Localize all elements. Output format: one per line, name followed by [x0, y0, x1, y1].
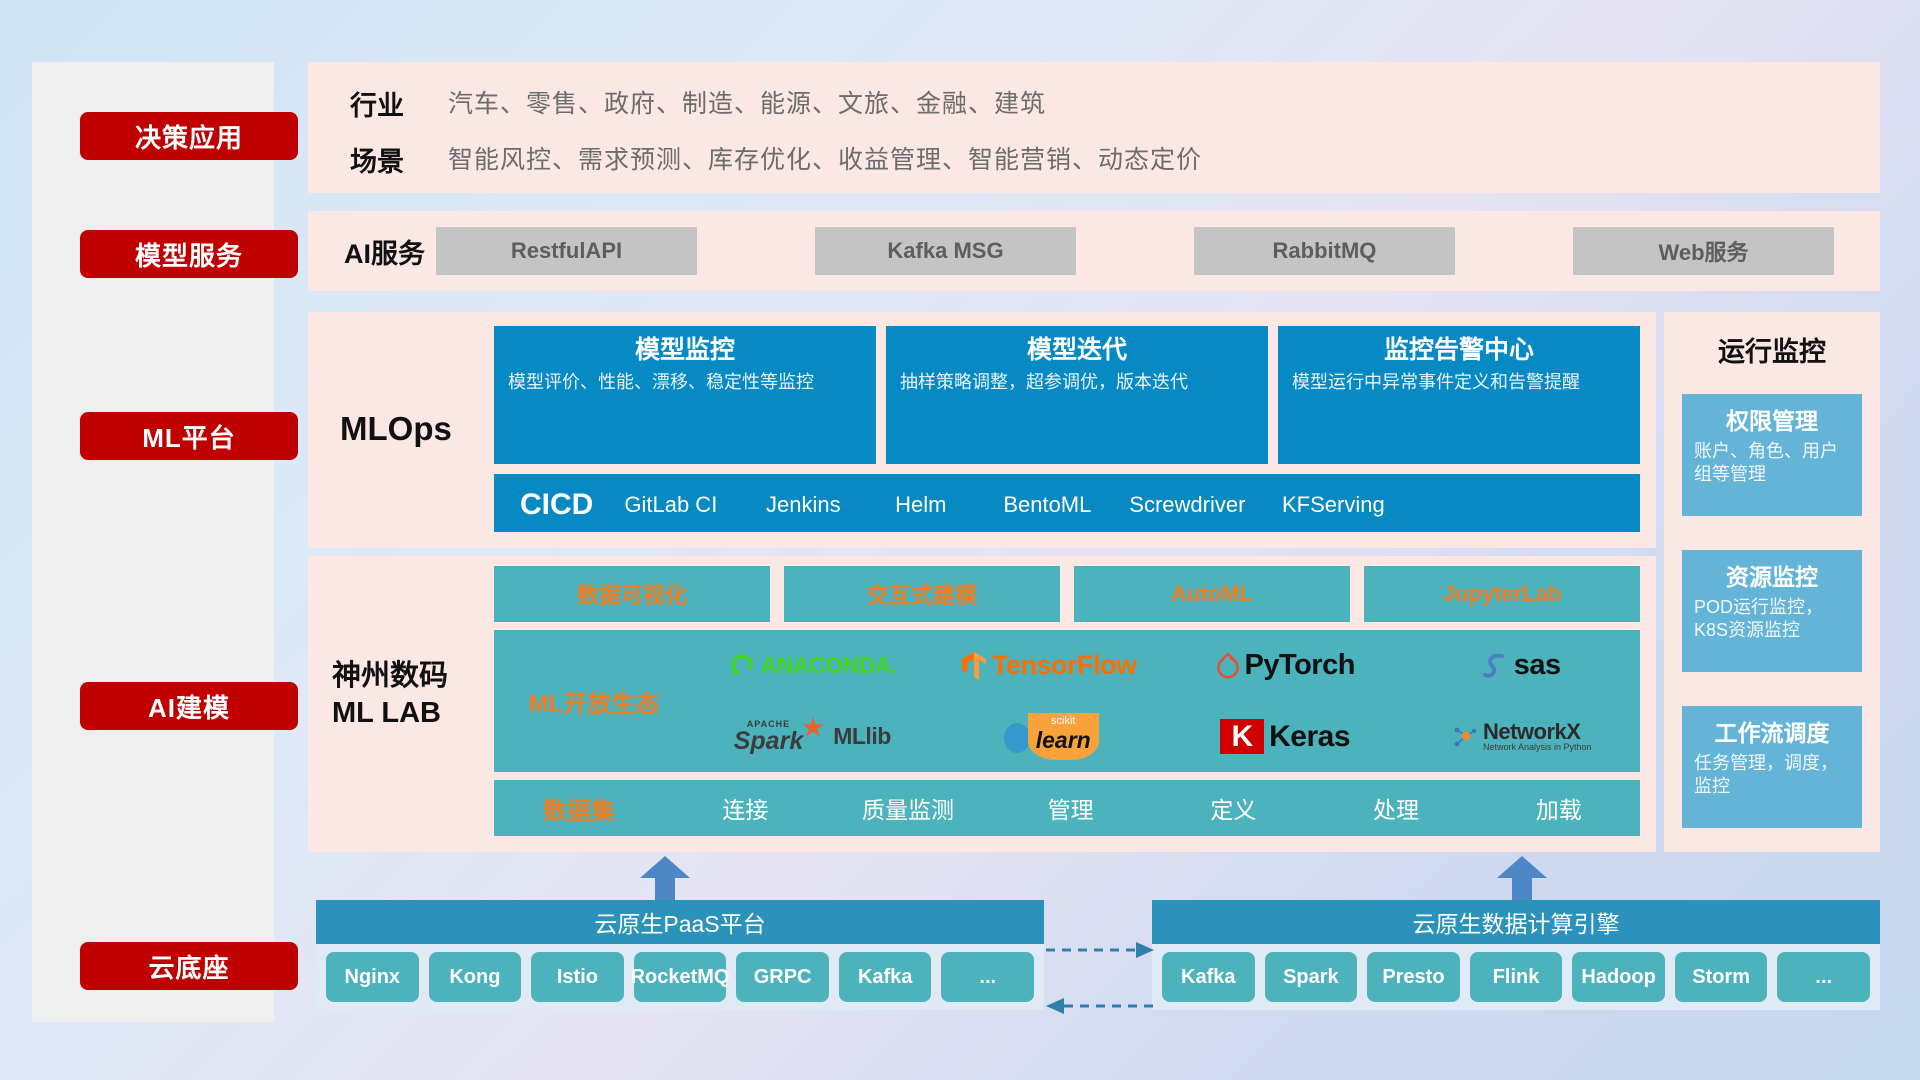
cicd-bar: CICD GitLab CI Jenkins Helm BentoML Scre… — [494, 474, 1640, 532]
dataset-item-load[interactable]: 加载 — [1477, 791, 1640, 825]
data-engine-chip-row: Kafka Spark Presto Flink Hadoop Storm ..… — [1152, 944, 1880, 1010]
dataset-row: 数据集 连接 质量监测 管理 定义 处理 加载 — [494, 780, 1640, 836]
chip-more[interactable]: ... — [941, 952, 1034, 1002]
networkx-graph-icon — [1452, 724, 1478, 750]
card-desc: 模型运行中异常事件定义和告警提醒 — [1292, 371, 1626, 395]
cicd-item-gitlab-ci[interactable]: GitLab CI — [593, 474, 748, 519]
cicd-label: Jenkins — [766, 492, 841, 517]
tensorflow-logo: TensorFlow — [961, 650, 1137, 681]
scikit-learn-logo: scikit learn — [999, 713, 1099, 760]
dataset-title: 数据集 — [494, 791, 664, 826]
learn-text: learn — [1036, 727, 1091, 754]
mlops-label: MLOps — [340, 410, 452, 448]
tab-jupyterlab[interactable]: JupyterLab — [1364, 566, 1640, 622]
chip-label: Istio — [557, 966, 598, 988]
card-title: 权限管理 — [1694, 402, 1850, 436]
sas-icon — [1483, 652, 1509, 680]
chip-label: Kafka — [858, 966, 912, 988]
ml-ecosystem-row: ML开放生态 ANACONDA. TensorFlow — [494, 630, 1640, 772]
anaconda-icon — [728, 652, 756, 680]
chip-label: Storm — [1692, 966, 1750, 988]
service-label: Web服务 — [1658, 235, 1748, 267]
anaconda-logo: ANACONDA. — [728, 652, 897, 680]
tab-automl[interactable]: AutoML — [1074, 566, 1350, 622]
rail-item-cloud-base[interactable]: 云底座 — [80, 942, 298, 990]
cicd-item-helm[interactable]: Helm — [858, 474, 983, 519]
dataset-item-process[interactable]: 处理 — [1315, 791, 1478, 825]
rail-item-ai-modeling[interactable]: AI建模 — [80, 682, 298, 730]
chip-label: Kong — [449, 966, 500, 988]
tab-label: 交互式建模 — [867, 578, 977, 610]
service-web[interactable]: Web服务 — [1573, 227, 1834, 275]
cicd-label: GitLab CI — [624, 492, 717, 517]
chip-kafka[interactable]: Kafka — [839, 952, 932, 1002]
card-desc: 账户、角色、用户组等管理 — [1694, 440, 1850, 487]
mlops-panel: MLOps 模型监控 模型评价、性能、漂移、稳定性等监控 模型迭代 抽样策略调整… — [308, 312, 1656, 548]
service-label: RabbitMQ — [1273, 238, 1377, 264]
rail-item-ml-platform[interactable]: ML平台 — [80, 412, 298, 460]
chip-presto[interactable]: Presto — [1367, 952, 1460, 1002]
cicd-title: CICD — [494, 474, 593, 522]
bidirectional-link-arrows — [1044, 938, 1156, 1022]
cicd-item-kfserving[interactable]: KFServing — [1263, 474, 1403, 519]
chip-hadoop[interactable]: Hadoop — [1572, 952, 1665, 1002]
monitoring-title: 运行监控 — [1664, 330, 1880, 369]
dataset-item-manage[interactable]: 管理 — [989, 791, 1152, 825]
cicd-label: Helm — [895, 492, 946, 517]
arrow-up-paas — [640, 856, 690, 900]
application-layer-panel: 行业 汽车、零售、政府、制造、能源、文旅、金融、建筑 场景 智能风控、需求预测、… — [308, 62, 1880, 193]
service-label: RestfulAPI — [511, 238, 622, 264]
paas-chip-row: Nginx Kong Istio RocketMQ GRPC Kafka ... — [316, 944, 1044, 1010]
chip-rocketmq[interactable]: RocketMQ — [634, 952, 727, 1002]
ai-service-label: AI服务 — [308, 232, 436, 271]
cicd-label: Screwdriver — [1129, 492, 1245, 517]
card-desc: POD运行监控，K8S资源监控 — [1694, 596, 1850, 643]
dataset-item-define[interactable]: 定义 — [1152, 791, 1315, 825]
dataset-label: 定义 — [1210, 797, 1256, 823]
data-engine-title: 云原生数据计算引擎 — [1152, 900, 1880, 944]
card-title: 模型迭代 — [900, 336, 1254, 365]
chip-label: Kafka — [1181, 966, 1235, 988]
mlops-card-alert-center[interactable]: 监控告警中心 模型运行中异常事件定义和告警提醒 — [1278, 326, 1640, 464]
cicd-label: BentoML — [1003, 492, 1091, 517]
tab-data-visualization[interactable]: 数据可视化 — [494, 566, 770, 622]
chip-label: ... — [979, 966, 996, 988]
chip-grpc[interactable]: GRPC — [736, 952, 829, 1002]
chip-nginx[interactable]: Nginx — [326, 952, 419, 1002]
logo-grid: ANACONDA. TensorFlow PyTorch — [694, 630, 1640, 772]
dataset-label: 处理 — [1373, 797, 1419, 823]
spark-mllib-logo: APACHE Spark MLlib — [734, 720, 891, 754]
mllab-label-en: ML LAB — [332, 695, 448, 732]
data-engine-block: 云原生数据计算引擎 Kafka Spark Presto Flink Hadoo… — [1152, 900, 1880, 1010]
mlops-card-model-monitoring[interactable]: 模型监控 模型评价、性能、漂移、稳定性等监控 — [494, 326, 876, 464]
card-title: 工作流调度 — [1694, 714, 1850, 748]
keras-text: Keras — [1269, 720, 1350, 754]
monitoring-card-permission[interactable]: 权限管理 账户、角色、用户组等管理 — [1682, 394, 1862, 516]
sas-text: sas — [1514, 649, 1561, 682]
monitoring-card-workflow[interactable]: 工作流调度 任务管理，调度，监控 — [1682, 706, 1862, 828]
card-desc: 模型评价、性能、漂移、稳定性等监控 — [508, 371, 862, 395]
pytorch-icon — [1216, 652, 1240, 680]
chip-label: Presto — [1382, 966, 1444, 988]
service-kafka-msg[interactable]: Kafka MSG — [815, 227, 1076, 275]
monitoring-panel: 运行监控 权限管理 账户、角色、用户组等管理 资源监控 POD运行监控，K8S资… — [1664, 312, 1880, 852]
networkx-text: NetworkX — [1483, 721, 1592, 743]
mllib-text: MLlib — [833, 723, 891, 750]
tab-label: AutoML — [1171, 581, 1253, 607]
dataset-item-quality[interactable]: 质量监测 — [827, 791, 990, 825]
networkx-subtitle: Network Analysis in Python — [1483, 743, 1592, 752]
rail-label: 决策应用 — [135, 118, 243, 155]
chip-label: GRPC — [754, 966, 812, 988]
tensorflow-text: TensorFlow — [992, 650, 1137, 681]
dataset-label: 加载 — [1536, 797, 1582, 823]
spark-star-icon — [802, 717, 824, 739]
chip-label: Hadoop — [1581, 966, 1655, 988]
chip-label: RocketMQ — [631, 966, 730, 988]
ecosystem-label: ML开放生态 — [494, 684, 694, 719]
tab-interactive-modeling[interactable]: 交互式建模 — [784, 566, 1060, 622]
keras-logo: K Keras — [1220, 719, 1350, 755]
tab-label: JupyterLab — [1443, 581, 1562, 607]
industry-value: 汽车、零售、政府、制造、能源、文旅、金融、建筑 — [448, 84, 1046, 120]
chip-more[interactable]: ... — [1777, 952, 1870, 1002]
chip-flink[interactable]: Flink — [1470, 952, 1563, 1002]
card-title: 资源监控 — [1694, 558, 1850, 592]
dataset-label: 管理 — [1048, 797, 1094, 823]
rail-label: 模型服务 — [135, 236, 243, 273]
dataset-label: 质量监测 — [862, 797, 954, 823]
industry-label: 行业 — [350, 84, 404, 123]
dataset-item-connect[interactable]: 连接 — [664, 791, 827, 825]
cicd-item-jenkins[interactable]: Jenkins — [748, 474, 858, 519]
scenario-label: 场景 — [350, 140, 404, 179]
mlops-card-model-iteration[interactable]: 模型迭代 抽样策略调整，超参调优，版本迭代 — [886, 326, 1268, 464]
chip-storm[interactable]: Storm — [1675, 952, 1768, 1002]
rail-label: AI建模 — [148, 688, 230, 725]
spark-text: Spark — [734, 729, 803, 754]
pytorch-text: PyTorch — [1245, 649, 1355, 682]
chip-label: Flink — [1493, 966, 1540, 988]
rail-label: ML平台 — [142, 418, 236, 455]
scikit-text: scikit — [1051, 715, 1075, 727]
chip-istio[interactable]: Istio — [531, 952, 624, 1002]
rail-item-decision-app[interactable]: 决策应用 — [80, 112, 298, 160]
keras-k-icon: K — [1220, 719, 1264, 755]
chip-label: Spark — [1283, 966, 1339, 988]
paas-platform-block: 云原生PaaS平台 Nginx Kong Istio RocketMQ GRPC… — [316, 900, 1044, 1010]
cicd-item-bentoml[interactable]: BentoML — [983, 474, 1111, 519]
mllab-label-cn: 神州数码 — [332, 658, 448, 695]
service-restfulapi[interactable]: RestfulAPI — [436, 227, 697, 275]
layer-rail: 决策应用 模型服务 ML平台 AI建模 云底座 — [32, 62, 274, 1022]
chip-kong[interactable]: Kong — [429, 952, 522, 1002]
service-rabbitmq[interactable]: RabbitMQ — [1194, 227, 1455, 275]
card-desc: 任务管理，调度，监控 — [1694, 752, 1850, 799]
scenario-value: 智能风控、需求预测、库存优化、收益管理、智能营销、动态定价 — [448, 140, 1202, 176]
tensorflow-icon — [961, 651, 987, 681]
chip-label: ... — [1815, 966, 1832, 988]
cicd-label: KFServing — [1282, 492, 1385, 517]
service-label: Kafka MSG — [887, 238, 1003, 264]
tab-label: 数据可视化 — [577, 578, 687, 610]
card-title: 监控告警中心 — [1292, 336, 1626, 365]
monitoring-card-resource[interactable]: 资源监控 POD运行监控，K8S资源监控 — [1682, 550, 1862, 672]
rail-label: 云底座 — [148, 948, 229, 985]
paas-title: 云原生PaaS平台 — [316, 900, 1044, 944]
service-layer-panel: AI服务 RestfulAPI Kafka MSG RabbitMQ Web服务 — [308, 211, 1880, 291]
rail-item-model-service[interactable]: 模型服务 — [80, 230, 298, 278]
card-desc: 抽样策略调整，超参调优，版本迭代 — [900, 371, 1254, 395]
chip-label: Nginx — [345, 966, 401, 988]
pytorch-logo: PyTorch — [1216, 649, 1355, 682]
dataset-label: 连接 — [722, 797, 768, 823]
arrow-up-data-engine — [1497, 856, 1547, 900]
card-title: 模型监控 — [508, 336, 862, 365]
anaconda-text: ANACONDA. — [761, 652, 897, 679]
chip-kafka[interactable]: Kafka — [1162, 952, 1255, 1002]
modeling-panel: 神州数码 ML LAB 数据可视化 交互式建模 AutoML JupyterLa… — [308, 556, 1656, 852]
chip-spark[interactable]: Spark — [1265, 952, 1358, 1002]
architecture-diagram: 决策应用 模型服务 ML平台 AI建模 云底座 行业 汽车、零售、政府、制造、能… — [0, 0, 1920, 1080]
sas-logo: sas — [1483, 649, 1561, 682]
networkx-logo: NetworkX Network Analysis in Python — [1452, 721, 1592, 752]
cicd-item-screwdriver[interactable]: Screwdriver — [1111, 474, 1263, 519]
